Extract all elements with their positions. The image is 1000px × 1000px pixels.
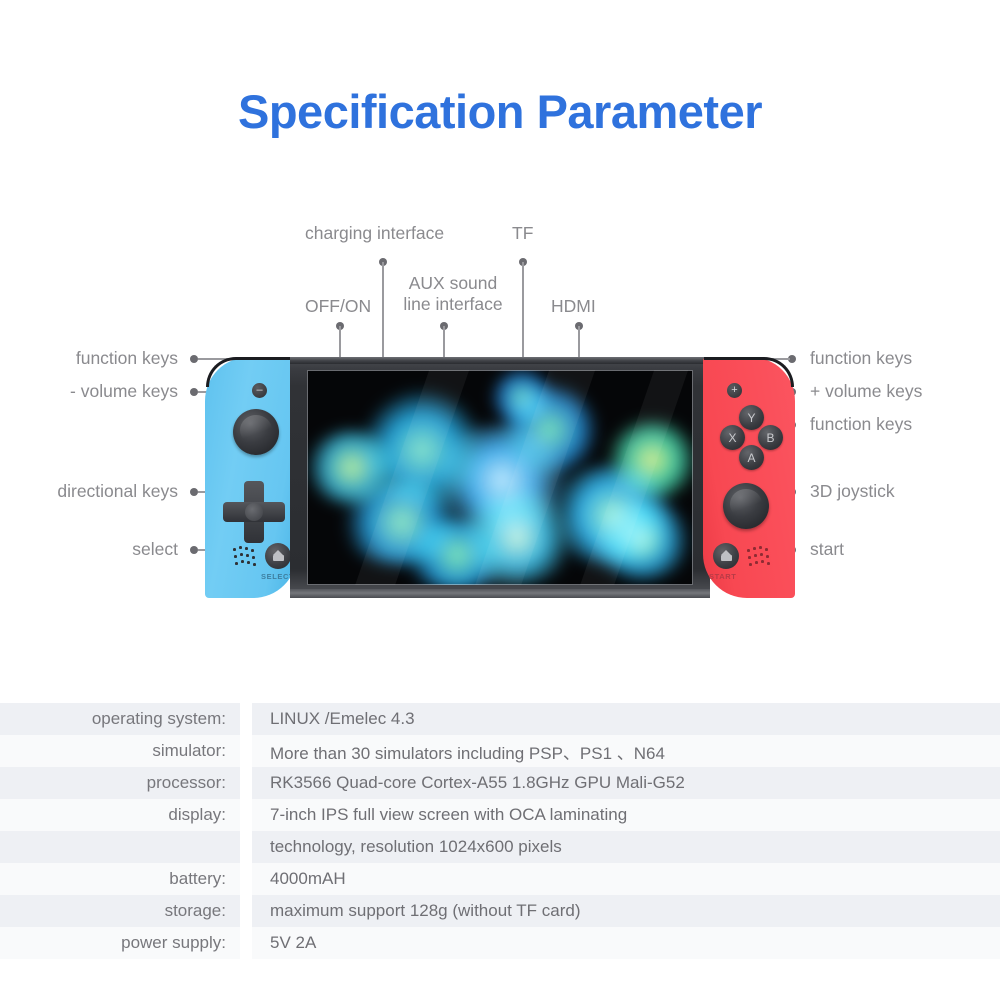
spec-value: 5V 2A xyxy=(252,927,1000,959)
button-b[interactable]: B xyxy=(758,425,783,450)
left-grip-outline xyxy=(206,357,296,387)
table-row: power supply:5V 2A xyxy=(0,927,1000,959)
home-icon xyxy=(721,551,732,561)
start-button[interactable] xyxy=(713,543,739,569)
start-button-label: START xyxy=(709,572,736,581)
minus-volume-button[interactable]: – xyxy=(252,383,267,398)
callout-dot-select xyxy=(190,546,198,554)
callout-label-directional-keys: directional keys xyxy=(0,481,178,502)
spec-value: LINUX /Emelec 4.3 xyxy=(252,703,1000,735)
callout-label-joystick-3d: 3D joystick xyxy=(810,481,895,502)
callout-label-function-keys-left: function keys xyxy=(0,348,178,369)
page-title: Specification Parameter xyxy=(0,84,1000,139)
right-grip-outline xyxy=(704,357,794,387)
plus-volume-button[interactable]: + xyxy=(727,383,742,398)
callout-label-start: start xyxy=(810,539,844,560)
button-y[interactable]: Y xyxy=(739,405,764,430)
callout-label-off-on: OFF/ON xyxy=(305,296,371,317)
callout-label-minus-volume-keys: - volume keys xyxy=(0,381,178,402)
right-grip: + Y X B A START xyxy=(703,357,795,598)
table-row: processor:RK3566 Quad-core Cortex-A55 1.… xyxy=(0,767,1000,799)
callout-label-aux-line1: AUX sound xyxy=(393,273,513,294)
spec-key: power supply: xyxy=(0,927,240,959)
callout-label-plus-volume-keys: + volume keys xyxy=(810,381,922,402)
spec-value: RK3566 Quad-core Cortex-A55 1.8GHz GPU M… xyxy=(252,767,1000,799)
callout-dot-minus-volume-keys xyxy=(190,388,198,396)
callout-line-tf xyxy=(522,262,524,358)
callout-label-hdmi: HDMI xyxy=(551,296,596,317)
callout-label-select: select xyxy=(0,539,178,560)
handheld-console-image: – SELECT xyxy=(205,357,795,598)
callout-line-hdmi xyxy=(578,326,580,358)
home-icon xyxy=(273,551,284,561)
spec-key: simulator: xyxy=(0,735,240,767)
callout-line-charging-interface xyxy=(382,262,384,358)
callout-line-aux-sound-line-interface xyxy=(443,326,445,358)
spec-key: display: xyxy=(0,799,240,831)
spec-value: 7-inch IPS full view screen with OCA lam… xyxy=(252,799,1000,831)
screen-artwork xyxy=(307,370,693,585)
minus-volume-label: – xyxy=(256,385,262,396)
specification-table: operating system:LINUX /Emelec 4.3simula… xyxy=(0,703,1000,959)
table-row: operating system:LINUX /Emelec 4.3 xyxy=(0,703,1000,735)
spec-key: storage: xyxy=(0,895,240,927)
table-row: simulator:More than 30 simulators includ… xyxy=(0,735,1000,767)
dpad-hub xyxy=(245,503,263,521)
table-row: display:7-inch IPS full view screen with… xyxy=(0,799,1000,831)
spec-key: processor: xyxy=(0,767,240,799)
left-grip: – SELECT xyxy=(205,357,297,598)
button-a[interactable]: A xyxy=(739,445,764,470)
console-screen xyxy=(307,370,693,585)
callout-label-charging-interface: charging interface xyxy=(305,223,444,244)
plus-volume-label: + xyxy=(731,385,737,396)
directional-pad[interactable] xyxy=(223,481,285,543)
callout-label-function-keys-right-abxy: function keys xyxy=(810,414,912,435)
select-button[interactable] xyxy=(265,543,291,569)
console-bottom-edge xyxy=(290,589,710,598)
table-row: battery:4000mAH xyxy=(0,863,1000,895)
button-a-label: A xyxy=(747,451,755,465)
left-speaker-grill xyxy=(233,546,259,572)
callout-line-off-on xyxy=(339,326,341,358)
right-speaker-grill xyxy=(747,546,773,572)
table-row: technology, resolution 1024x600 pixels xyxy=(0,831,1000,863)
left-joystick[interactable] xyxy=(233,409,279,455)
spec-value: More than 30 simulators including PSP、PS… xyxy=(252,735,1000,767)
callout-label-tf: TF xyxy=(512,223,533,244)
callout-dot-directional-keys xyxy=(190,488,198,496)
callout-label-aux-line2: line interface xyxy=(393,294,513,315)
spec-key: battery: xyxy=(0,863,240,895)
table-row: storage:maximum support 128g (without TF… xyxy=(0,895,1000,927)
button-x-label: X xyxy=(728,431,736,445)
button-y-label: Y xyxy=(747,411,755,425)
spec-value: 4000mAH xyxy=(252,863,1000,895)
spec-value: maximum support 128g (without TF card) xyxy=(252,895,1000,927)
button-b-label: B xyxy=(766,431,774,445)
spec-key: operating system: xyxy=(0,703,240,735)
right-joystick[interactable] xyxy=(723,483,769,529)
button-x[interactable]: X xyxy=(720,425,745,450)
callout-dot-function-keys-left xyxy=(190,355,198,363)
spec-key xyxy=(0,831,240,863)
spec-value: technology, resolution 1024x600 pixels xyxy=(252,831,1000,863)
callout-label-function-keys-right-top: function keys xyxy=(810,348,912,369)
console-top-edge xyxy=(290,357,710,364)
